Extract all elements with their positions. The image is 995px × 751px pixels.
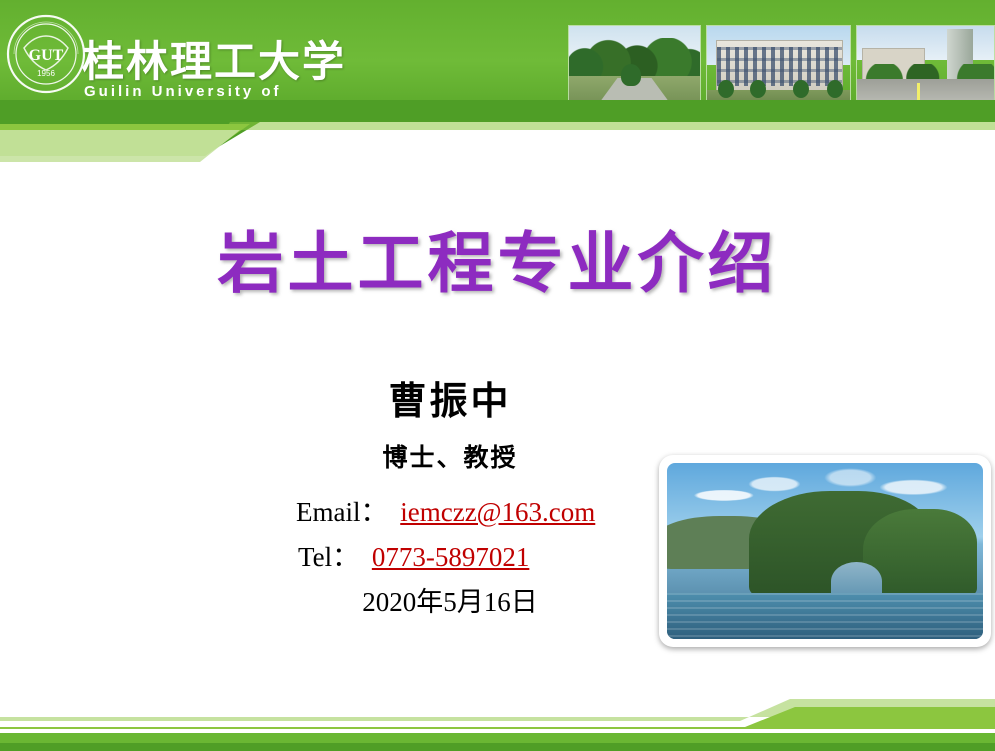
university-name-cn: 桂林理工大学 [82, 28, 346, 89]
email-value[interactable]: iemczz@163.com [400, 497, 595, 527]
footer-wave-divider [0, 651, 995, 751]
presenter-credentials: 博士、教授 [240, 438, 660, 474]
tel-value[interactable]: 0773-5897021 [372, 542, 530, 572]
tel-label: Tel： [298, 542, 359, 572]
presenter-name: 曹振中 [240, 370, 660, 425]
slide-title: 岩土工程专业介绍 [0, 210, 995, 306]
scenic-photo-inner [667, 463, 983, 639]
presentation-date: 2020年5月16日 [240, 580, 660, 619]
svg-text:1956: 1956 [37, 69, 55, 78]
header-wave-divider [0, 100, 995, 162]
email-label: Email： [296, 497, 387, 527]
elephant-trunk-hill-photo [659, 455, 991, 647]
tel-row: Tel： 0773-5897021 [298, 535, 529, 574]
university-logo: GUT 1956 [6, 14, 86, 94]
email-row: Email： iemczz@163.com [296, 490, 595, 529]
svg-text:GUT: GUT [29, 47, 64, 64]
presentation-slide: GUT 1956 桂林理工大学 Guilin University of Tec… [0, 0, 995, 751]
